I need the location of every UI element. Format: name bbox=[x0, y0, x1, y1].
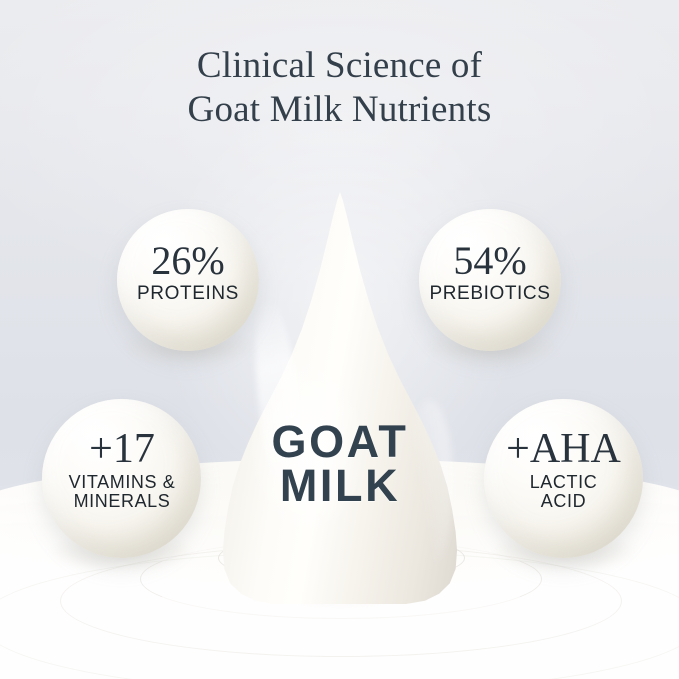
droplet-label-line-2: MILK bbox=[222, 464, 458, 508]
droplet-label: GOAT MILK bbox=[222, 420, 458, 508]
infographic-canvas: Clinical Science of Goat Milk Nutrients … bbox=[0, 0, 679, 679]
page-title-line-1: Clinical Science of bbox=[197, 45, 482, 86]
milk-droplet-icon bbox=[222, 192, 458, 604]
page-title-line-2: Goat Milk Nutrients bbox=[0, 88, 679, 132]
nutrient-sphere-vitamins[interactable] bbox=[42, 399, 201, 558]
page-title: Clinical Science of Goat Milk Nutrients bbox=[0, 44, 679, 131]
nutrient-sphere-prebiotics[interactable] bbox=[419, 209, 561, 351]
nutrient-sphere-proteins[interactable] bbox=[117, 209, 259, 351]
nutrient-sphere-aha[interactable] bbox=[484, 399, 643, 558]
